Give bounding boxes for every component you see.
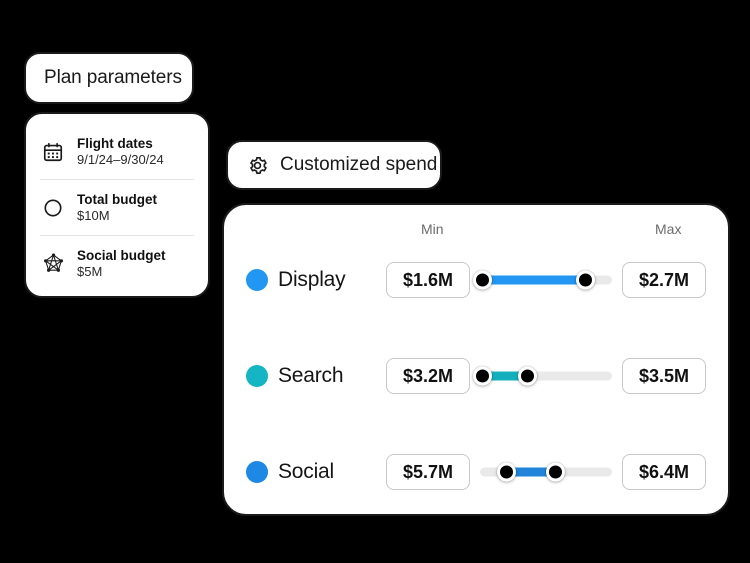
plan-parameter-label: Total budget (77, 192, 157, 208)
plan-parameter-label: Flight dates (77, 136, 164, 152)
plan-parameter-label: Social budget (77, 248, 166, 264)
plan-parameter-social-budget[interactable]: Social budget $5M (26, 236, 208, 291)
min-value-input[interactable]: $3.2M (386, 358, 470, 394)
gear-icon (244, 152, 270, 178)
customized-spend-card: Min Max Display $1.6M $2.7M Search $3.2M… (222, 203, 730, 516)
plan-parameter-value: 9/1/24–9/30/24 (77, 152, 164, 167)
row-spacer (246, 315, 706, 341)
customized-spend-title: Customized spend (280, 154, 437, 176)
circle-icon (40, 195, 66, 221)
range-slider-display[interactable] (480, 262, 612, 298)
channel-row-search: Search $3.2M $3.5M (246, 341, 706, 411)
channel-row-social: Social $5.7M $6.4M (246, 437, 706, 507)
calendar-icon (40, 139, 66, 165)
channel-color-dot (246, 461, 268, 483)
plan-parameter-total-budget[interactable]: Total budget $10M (26, 180, 208, 235)
channel-label: Display (278, 268, 386, 292)
plan-parameter-value: $10M (77, 208, 157, 223)
max-column-header: Max (655, 221, 681, 237)
plan-parameters-card: Flight dates 9/1/24–9/30/24 Total budget… (24, 112, 210, 298)
channel-color-dot (246, 365, 268, 387)
max-value-input[interactable]: $6.4M (622, 454, 706, 490)
min-value-input[interactable]: $1.6M (386, 262, 470, 298)
customized-spend-title-pill: Customized spend (226, 140, 442, 190)
plan-parameter-value: $5M (77, 264, 166, 279)
channel-label: Social (278, 460, 386, 484)
slider-handle-min[interactable] (473, 367, 492, 386)
slider-handle-max[interactable] (576, 271, 595, 290)
channel-label: Search (278, 364, 386, 388)
slider-handle-max[interactable] (518, 367, 537, 386)
slider-handle-min[interactable] (473, 271, 492, 290)
channel-color-dot (246, 269, 268, 291)
max-value-input[interactable]: $2.7M (622, 262, 706, 298)
slider-fill (483, 276, 586, 285)
plan-parameters-title-pill: Plan parameters (24, 52, 194, 104)
range-slider-search[interactable] (480, 358, 612, 394)
plan-parameters-title: Plan parameters (44, 67, 182, 89)
min-value-input[interactable]: $5.7M (386, 454, 470, 490)
pentagon-network-icon (40, 251, 66, 277)
channel-row-display: Display $1.6M $2.7M (246, 245, 706, 315)
min-column-header: Min (421, 221, 444, 237)
minmax-column-headers: Min Max (246, 221, 706, 243)
slider-handle-min[interactable] (497, 463, 516, 482)
plan-parameter-flight-dates[interactable]: Flight dates 9/1/24–9/30/24 (26, 124, 208, 179)
range-slider-social[interactable] (480, 454, 612, 490)
row-spacer (246, 411, 706, 437)
slider-handle-max[interactable] (546, 463, 565, 482)
max-value-input[interactable]: $3.5M (622, 358, 706, 394)
